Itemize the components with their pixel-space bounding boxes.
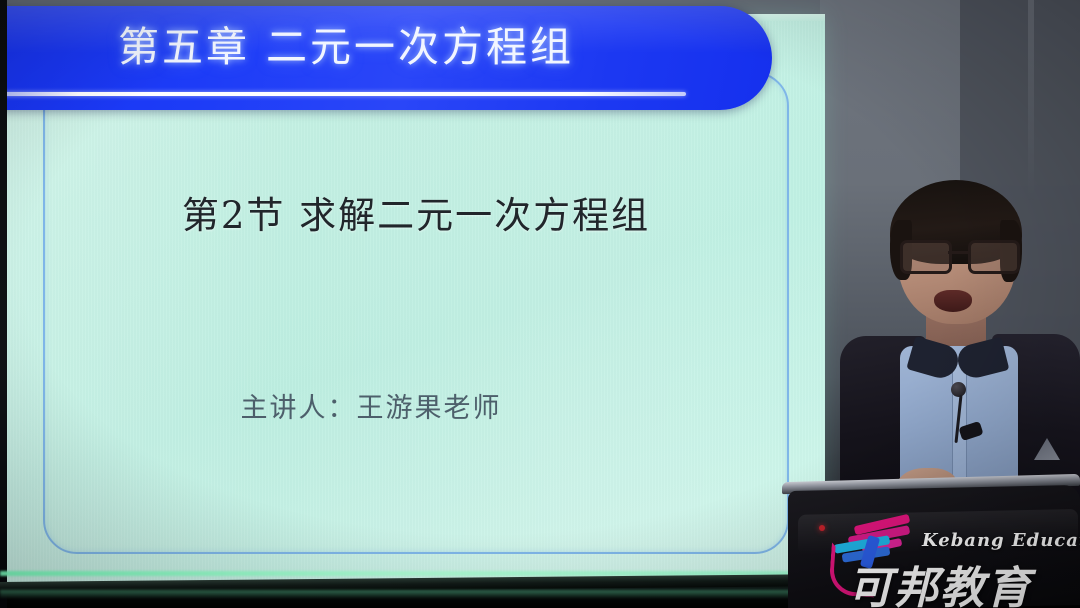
chapter-title: 第五章 二元一次方程组 xyxy=(0,6,732,80)
chapter-banner: 第五章 二元一次方程组 xyxy=(0,6,772,110)
screen-left-edge xyxy=(0,0,7,608)
banner-underline xyxy=(0,92,686,96)
logo-english-text: Kebang Education xyxy=(922,530,1080,551)
lapel-microphone-icon xyxy=(951,382,966,397)
slide-presenter-credit: 主讲人：王游果老师 xyxy=(51,386,691,425)
slide-subtitle: 第2节 求解二元一次方程组 xyxy=(51,185,781,239)
presenter-figure xyxy=(838,150,1076,510)
glasses-icon xyxy=(898,240,1018,270)
video-frame: 第2节 求解二元一次方程组 主讲人：王游果老师 第五章 二元一次方程组 xyxy=(0,0,1080,608)
channel-logo: Kebang Education 可邦教育 xyxy=(818,508,1080,608)
logo-chinese-text: 可邦教育 xyxy=(848,552,1032,608)
slide-content-frame xyxy=(43,72,789,554)
lens-right xyxy=(968,240,1020,274)
mouth xyxy=(934,290,972,312)
screen-bottom-frame-shadow xyxy=(0,590,840,598)
glasses-bridge xyxy=(948,251,968,254)
lens-left xyxy=(900,240,952,274)
